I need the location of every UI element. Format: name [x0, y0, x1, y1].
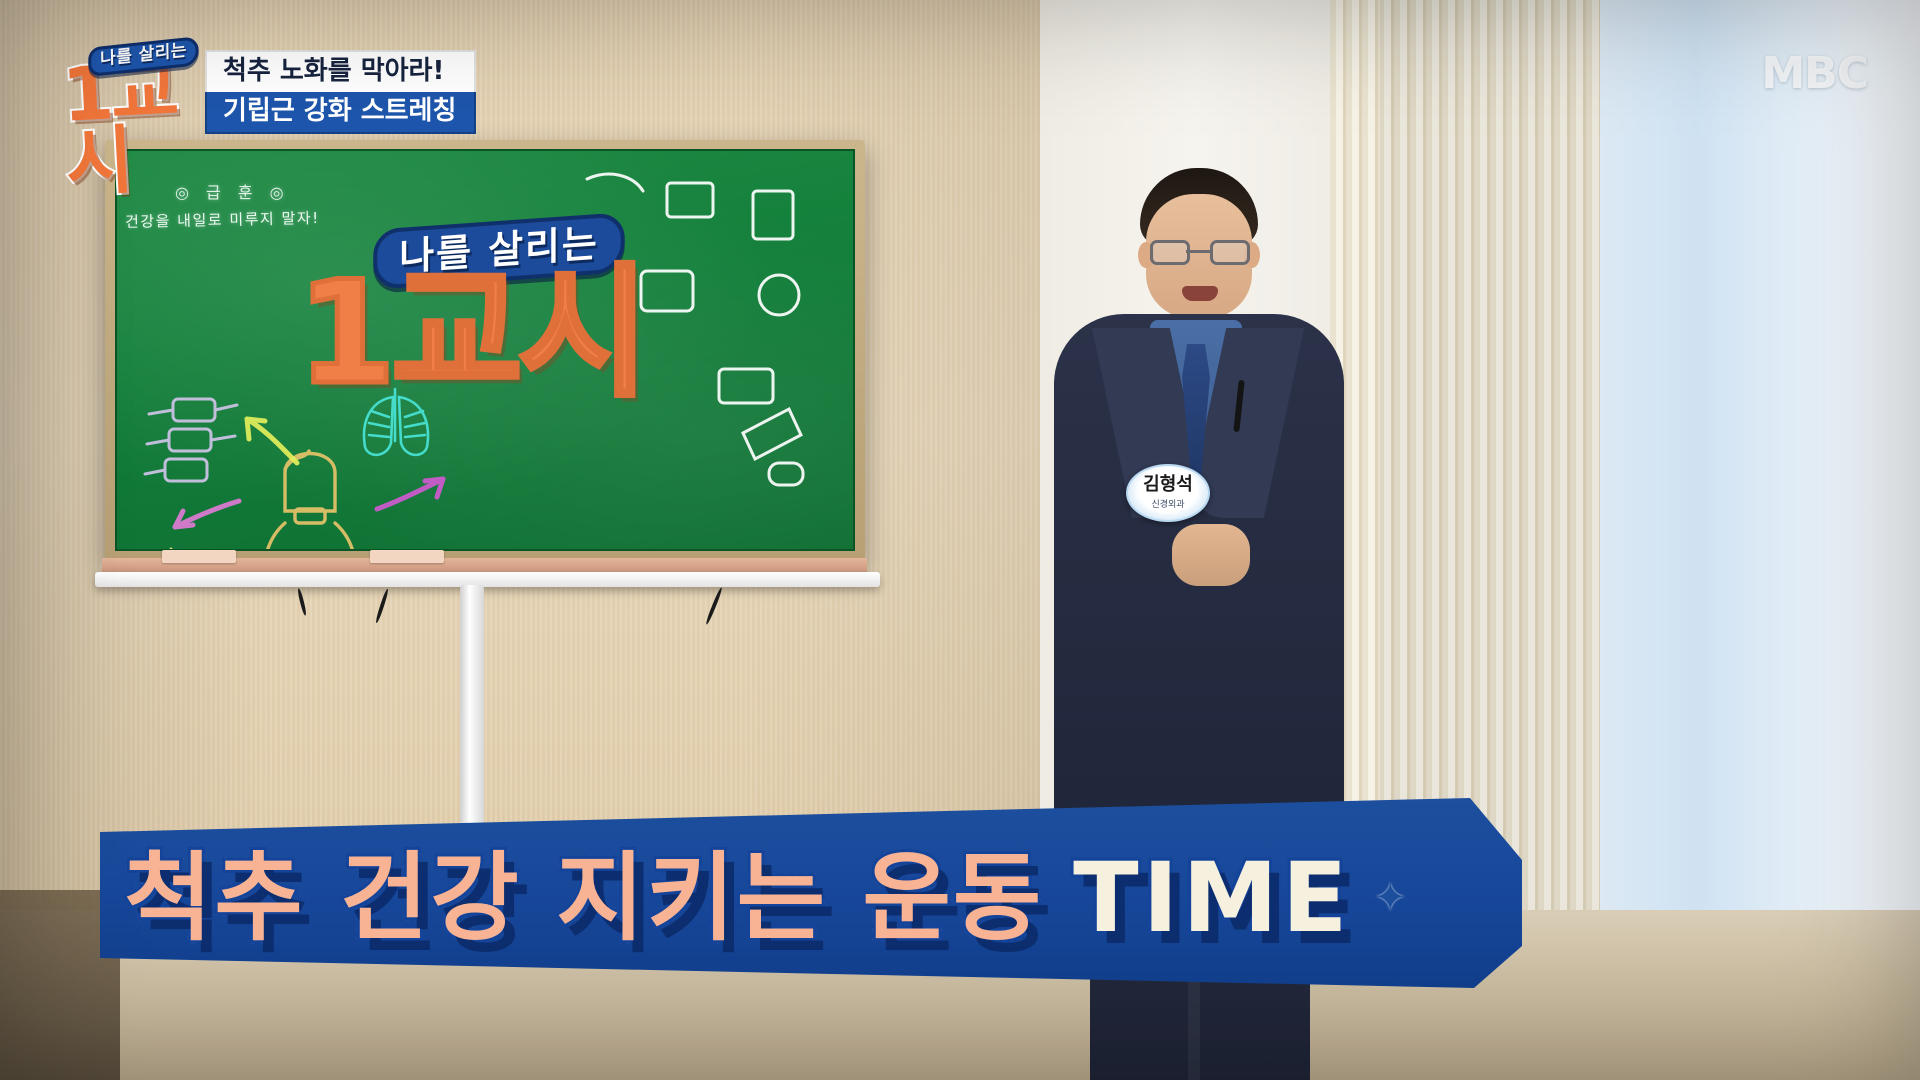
- name-badge-department: 신경외과: [1151, 497, 1184, 510]
- chalk-piece: [162, 550, 236, 563]
- title-bars: 척추 노화를 막아라! 기립근 강화 스트레칭: [205, 50, 476, 134]
- board-logo-main-text: 1교시: [297, 263, 687, 405]
- title-line-2: 기립근 강화 스트레칭: [205, 92, 476, 134]
- board-program-logo: 나를 살리는 1교시: [297, 221, 687, 471]
- star-icon: ✦: [1373, 875, 1407, 921]
- arrow-left: [167, 489, 245, 537]
- presenter-name-badge: 김형석 신경외과: [1126, 464, 1210, 522]
- program-logo-main-text: 1교시: [61, 54, 216, 198]
- chalkboard-surface: ◎ 급 훈 ◎ 건강을 내일로 미루지 말자!: [115, 149, 855, 551]
- chalkboard: ◎ 급 훈 ◎ 건강을 내일로 미루지 말자!: [105, 140, 865, 565]
- mbc-watermark: MBC: [1761, 48, 1868, 99]
- bottom-banner: 척추 건강 지키는 운동 TIME ✦: [100, 798, 1522, 988]
- chalkboard-stand-rail: [95, 572, 880, 587]
- chalk-piece: [370, 550, 444, 563]
- program-logo: 나를 살리는 1교시: [62, 38, 212, 158]
- title-line-1: 척추 노화를 막아라!: [205, 50, 476, 92]
- eyeglasses-left-lens: [1150, 240, 1190, 265]
- arrow-right: [371, 471, 451, 519]
- bottom-banner-korean-text: 척추 건강 지키는 운동: [124, 850, 1043, 946]
- bottom-banner-text-group: 척추 건강 지키는 운동 TIME ✦: [124, 828, 1464, 968]
- presenter-clasped-hands: [1172, 524, 1250, 586]
- eyeglasses-bridge: [1186, 250, 1212, 253]
- program-logo-banner-text: 나를 살리는: [100, 42, 187, 69]
- bottom-banner-english-text: TIME: [1073, 850, 1351, 946]
- board-motto-text: 건강을 내일로 미루지 말자!: [125, 207, 320, 232]
- studio-stage: ◎ 급 훈 ◎ 건강을 내일로 미루지 말자!: [0, 0, 1920, 1080]
- presenter-mouth: [1182, 286, 1218, 301]
- chalkboard-frame: ◎ 급 훈 ◎ 건강을 내일로 미루지 말자!: [105, 140, 865, 565]
- eyeglasses-right-lens: [1210, 240, 1250, 265]
- name-badge-name: 김형석: [1143, 476, 1193, 494]
